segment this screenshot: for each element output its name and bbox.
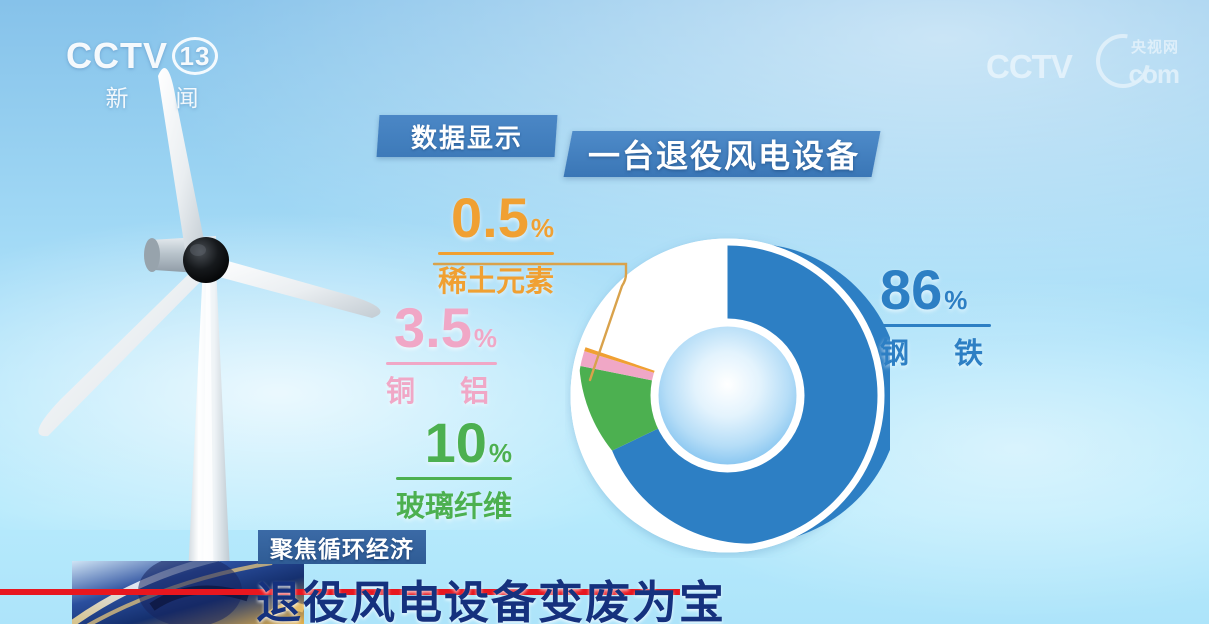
watermark-cn-text: 央视网	[1131, 36, 1179, 57]
watermark-com-text: com	[1129, 59, 1179, 90]
bottom-banner-tag-label: 聚焦循环经济	[270, 530, 414, 564]
stat-glass-fiber-value: 10%	[396, 415, 512, 471]
channel-number: 13	[172, 37, 218, 75]
top-banner-tag-label: 数据显示	[411, 118, 523, 155]
channel-logo: CCTV 13 新 闻	[66, 36, 236, 120]
top-banner-tag: 数据显示	[377, 115, 558, 157]
channel-name: 新 闻	[66, 79, 236, 113]
stat-steel: 86% 钢 铁	[880, 262, 991, 372]
stat-copper-aluminum: 3.5% 铜 铝	[386, 300, 497, 410]
stat-steel-label: 钢 铁	[880, 330, 991, 372]
stat-glass-fiber: 10% 玻璃纤维	[396, 415, 512, 525]
stat-steel-value: 86%	[880, 262, 991, 318]
broadcast-frame: CCTV 13 新 闻 CCTV 央视网 com 数据显示 一台退役风电设备	[0, 0, 1209, 624]
cctv-dot-com-watermark: CCTV 央视网 com	[986, 30, 1181, 92]
stat-steel-rule	[880, 324, 991, 327]
donut-center	[659, 327, 797, 465]
stat-copper-aluminum-label: 铜 铝	[386, 368, 497, 410]
stat-rare-earth-rule	[438, 252, 554, 255]
stat-rare-earth-value: 0.5%	[438, 190, 554, 246]
stat-copper-aluminum-value: 3.5%	[386, 300, 497, 356]
top-banner: 数据显示 一台退役风电设备	[378, 115, 938, 177]
stat-glass-fiber-rule	[396, 477, 512, 480]
stat-copper-aluminum-rule	[386, 362, 497, 365]
stat-rare-earth-label: 稀土元素	[438, 258, 554, 300]
top-banner-title-label: 一台退役风电设备	[588, 131, 860, 177]
channel-logo-text: CCTV	[66, 36, 168, 76]
bottom-banner-headline: 退役风电设备变废为宝	[256, 566, 726, 624]
bottom-banner-tag: 聚焦循环经济	[258, 530, 426, 564]
stat-rare-earth: 0.5% 稀土元素	[438, 190, 554, 300]
stat-glass-fiber-label: 玻璃纤维	[396, 483, 512, 525]
watermark-cctv-text: CCTV	[986, 48, 1072, 86]
bottom-banner: 聚焦循环经济 退役风电设备变废为宝	[248, 530, 808, 624]
top-banner-title: 一台退役风电设备	[564, 131, 881, 177]
